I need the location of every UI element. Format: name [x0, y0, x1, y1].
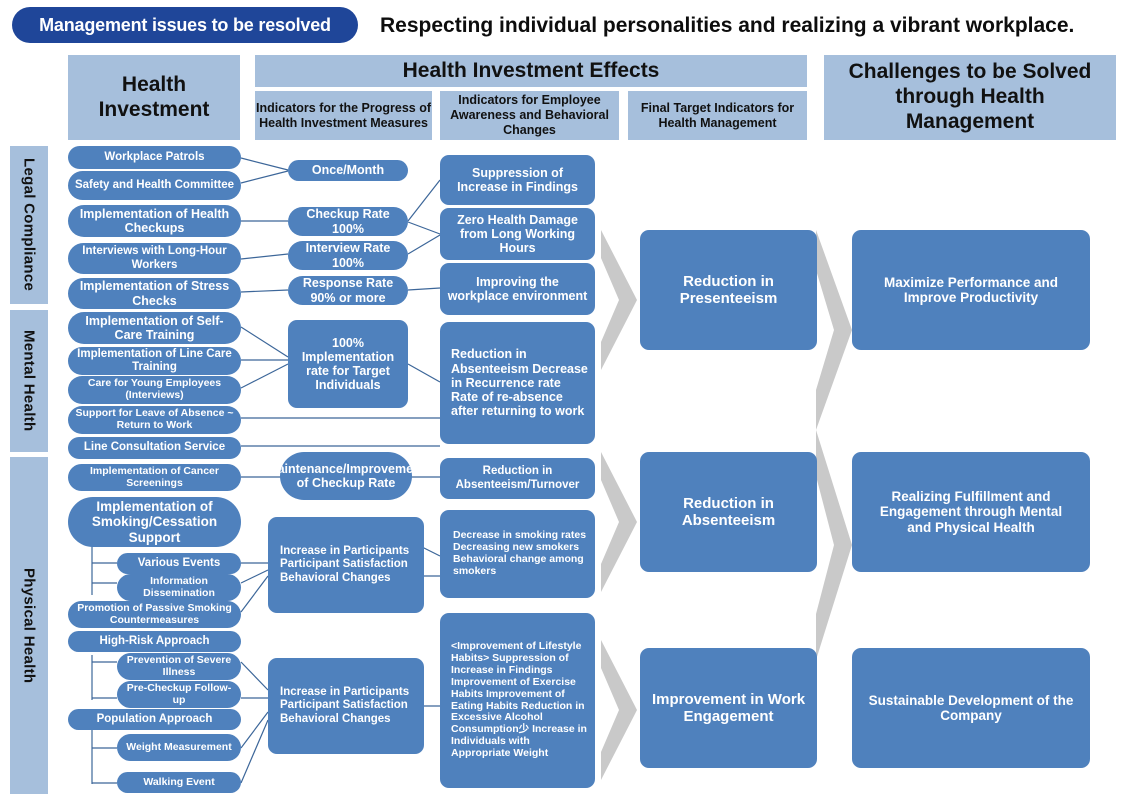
node-awareness-improving-workplace-env[interactable]: Improving the workplace environment: [440, 263, 595, 315]
node-investment-weight-measurement[interactable]: Weight Measurement: [117, 734, 241, 761]
chevron-arrow-to-challenges-top: [812, 230, 856, 430]
management-issues-badge: Management issues to be resolved: [12, 7, 358, 43]
node-investment-support-leave-return[interactable]: Support for Leave of Absence ~ Return to…: [68, 406, 241, 434]
node-investment-interviews-long-hour[interactable]: Interviews with Long-Hour Workers: [68, 243, 241, 274]
node-investment-self-care-training[interactable]: Implementation of Self-Care Training: [68, 312, 241, 344]
row-label-mental-health: Mental Health: [10, 310, 48, 452]
node-final-improvement-work-engagement[interactable]: Improvement in Work Engagement: [640, 648, 817, 768]
node-challenge-sustainable-development[interactable]: Sustainable Development of the Company: [852, 648, 1090, 768]
node-final-reduction-presenteeism[interactable]: Reduction in Presenteeism: [640, 230, 817, 350]
header-health-investment-effects: Health Investment Effects: [255, 55, 807, 87]
header-challenges: Challenges to be Solved through Health M…: [824, 55, 1116, 140]
row-label-mental-text: Mental Health: [21, 330, 38, 431]
node-progress-implementation-rate-target[interactable]: 100% Implementation rate for Target Indi…: [288, 320, 408, 408]
node-investment-health-checkups[interactable]: Implementation of Health Checkups: [68, 205, 241, 237]
node-investment-passive-smoking-countermeasures[interactable]: Promotion of Passive Smoking Countermeas…: [68, 601, 241, 628]
node-investment-smoking-cessation-support[interactable]: Implementation of Smoking/Cessation Supp…: [68, 497, 241, 547]
node-progress-maintenance-checkup-rate[interactable]: Maintenance/Improvement of Checkup Rate: [280, 452, 412, 500]
node-awareness-zero-health-damage[interactable]: Zero Health Damage from Long Working Hou…: [440, 208, 595, 260]
node-challenge-realizing-fulfillment[interactable]: Realizing Fulfillment and Engagement thr…: [852, 452, 1090, 572]
node-investment-various-events[interactable]: Various Events: [117, 553, 241, 574]
node-awareness-smoking-behavior[interactable]: Decrease in smoking rates Decreasing new…: [440, 510, 595, 598]
chevron-arrow-to-challenges-bottom: [812, 430, 856, 660]
node-investment-cancer-screenings[interactable]: Implementation of Cancer Screenings: [68, 464, 241, 491]
row-label-legal-compliance: Legal Compliance: [10, 146, 48, 304]
node-progress-increase-participants-health[interactable]: Increase in Participants Participant Sat…: [268, 658, 424, 754]
node-progress-checkup-rate[interactable]: Checkup Rate 100%: [288, 207, 408, 236]
node-investment-stress-checks[interactable]: Implementation of Stress Checks: [68, 278, 241, 309]
row-label-physical-text: Physical Health: [21, 568, 38, 683]
node-investment-prevention-severe-illness[interactable]: Prevention of Severe Illness: [117, 653, 241, 680]
node-investment-information-dissemination[interactable]: Information Dissemination: [117, 574, 241, 601]
node-progress-increase-participants-smoking[interactable]: Increase in Participants Participant Sat…: [268, 517, 424, 613]
node-investment-walking-event[interactable]: Walking Event: [117, 772, 241, 793]
headline-text: Respecting individual personalities and …: [380, 10, 1120, 42]
chevron-arrow-work-engagement: [597, 640, 641, 780]
node-challenge-maximize-performance[interactable]: Maximize Performance and Improve Product…: [852, 230, 1090, 350]
row-label-legal-text: Legal Compliance: [21, 158, 38, 291]
header-awareness-indicators: Indicators for Employee Awareness and Be…: [440, 91, 619, 140]
node-final-reduction-absenteeism[interactable]: Reduction in Absenteeism: [640, 452, 817, 572]
node-awareness-reduction-absenteeism-turnover[interactable]: Reduction in Absenteeism/Turnover: [440, 458, 595, 499]
node-investment-line-care-training[interactable]: Implementation of Line Care Training: [68, 347, 241, 375]
diagram-canvas: Management issues to be resolved Respect…: [0, 0, 1126, 799]
node-investment-workplace-patrols[interactable]: Workplace Patrols: [68, 146, 241, 169]
header-progress-indicators: Indicators for the Progress of Health In…: [255, 91, 432, 140]
node-awareness-suppression-findings[interactable]: Suppression of Increase in Findings: [440, 155, 595, 205]
header-final-target-indicators: Final Target Indicators for Health Manag…: [628, 91, 807, 140]
node-investment-high-risk-approach[interactable]: High-Risk Approach: [68, 631, 241, 652]
header-health-investment: Health Investment: [68, 55, 240, 140]
row-label-physical-health: Physical Health: [10, 457, 48, 794]
chevron-arrow-presenteeism: [597, 230, 641, 370]
node-investment-line-consultation-service[interactable]: Line Consultation Service: [68, 437, 241, 459]
node-investment-population-approach[interactable]: Population Approach: [68, 709, 241, 730]
node-awareness-lifestyle-habits[interactable]: <Improvement of Lifestyle Habits> Suppre…: [440, 613, 595, 788]
node-investment-safety-health-committee[interactable]: Safety and Health Committee: [68, 171, 241, 200]
node-awareness-reduction-absenteeism-recurrence[interactable]: Reduction in Absenteeism Decrease in Rec…: [440, 322, 595, 444]
node-progress-response-rate[interactable]: Response Rate 90% or more: [288, 276, 408, 305]
node-investment-pre-checkup-follow-up[interactable]: Pre-Checkup Follow-up: [117, 681, 241, 708]
node-investment-care-young-employees[interactable]: Care for Young Employees (Interviews): [68, 376, 241, 404]
node-progress-once-month[interactable]: Once/Month: [288, 160, 408, 181]
chevron-arrow-absenteeism: [597, 452, 641, 592]
node-progress-interview-rate[interactable]: Interview Rate 100%: [288, 241, 408, 270]
